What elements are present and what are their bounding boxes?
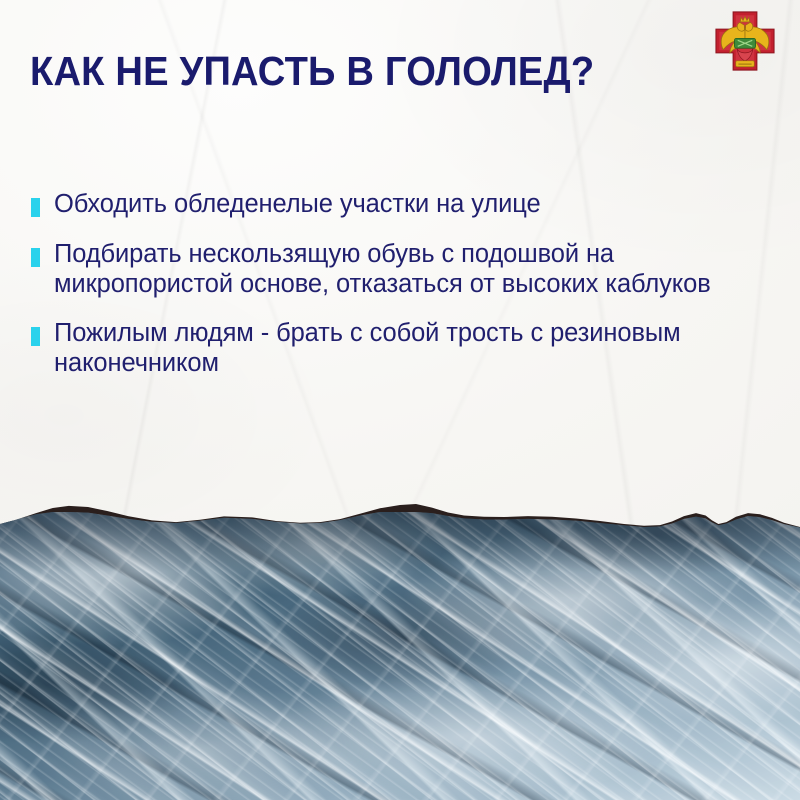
list-item-text: Пожилым людям - брать с собой трость с р… [54, 319, 731, 379]
bullet-marker-icon [31, 198, 40, 217]
ice-photo-band [0, 498, 800, 800]
list-item: Пожилым людям - брать с собой трость с р… [31, 319, 731, 379]
list-item: Подбирать нескользящую обувь с подошвой … [31, 240, 731, 300]
page-title: КАК НЕ УПАСТЬ В ГОЛОЛЕД? [30, 50, 681, 93]
list-item: Обходить обледенелые участки на улице [31, 190, 731, 220]
list-item-text: Подбирать нескользящую обувь с подошвой … [54, 240, 731, 300]
ice-photo-clip [0, 512, 800, 800]
list-item-text: Обходить обледенелые участки на улице [54, 190, 541, 220]
rospotrebnadzor-emblem-icon [712, 8, 778, 74]
poster-root: КАК НЕ УПАСТЬ В ГОЛОЛЕД? Обходить обледе… [0, 0, 800, 800]
advice-list: Обходить обледенелые участки на улице По… [31, 190, 731, 399]
bullet-marker-icon [31, 248, 40, 267]
bullet-marker-icon [31, 327, 40, 346]
ice-texture-image [0, 512, 800, 800]
